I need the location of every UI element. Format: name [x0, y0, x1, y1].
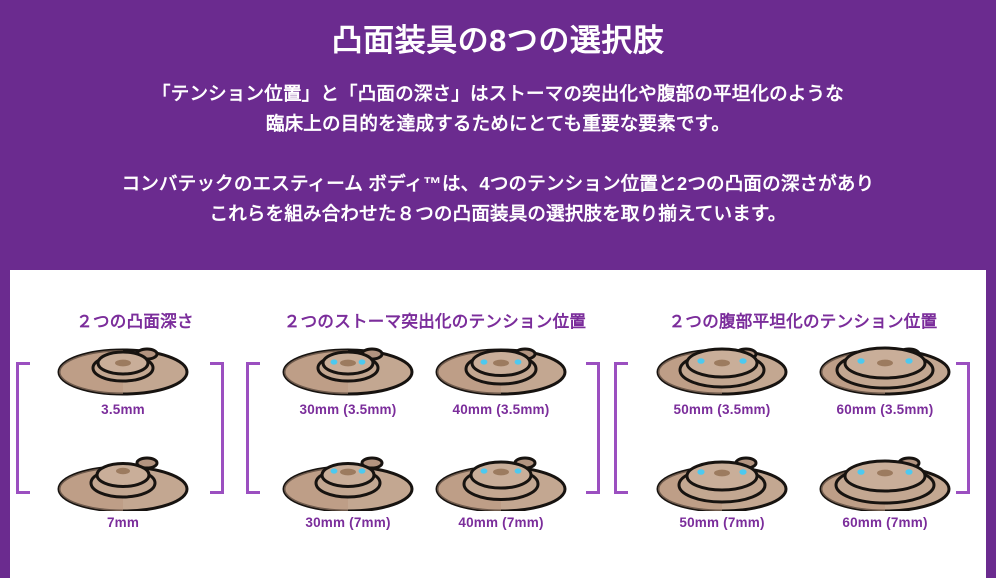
- group-heading-row: ２つの凸面深さ ２つのストーマ突出化のテンション位置 ２つの腹部平坦化のテンショ…: [10, 308, 986, 334]
- header-panel: 凸面装具の8つの選択肢 「テンション位置」と「凸面の深さ」はストーマの突出化や腹…: [0, 0, 996, 270]
- header-paragraph-1-line-1: 「テンション位置」と「凸面の深さ」はストーマの突出化や腹部の平坦化のような: [48, 79, 948, 109]
- tension-dot: [359, 359, 366, 364]
- header-paragraph-2-line-1: コンバテックのエスティーム ボディ™は、4つのテンション位置と2つの凸面の深さが…: [48, 169, 948, 199]
- barrier-illustration-abdomen-60mm-3-5mm: [800, 332, 970, 398]
- cell-stoma-30mm-7mm: 30mm (7mm): [263, 445, 433, 530]
- tension-dot: [905, 358, 912, 364]
- barrier-illustration-depth-3-5mm: [38, 332, 208, 398]
- bracket-depth-close: [210, 362, 224, 494]
- tension-dot: [481, 468, 488, 473]
- cell-label: 60mm (7mm): [800, 515, 970, 530]
- diagram-panel: ２つの凸面深さ ２つのストーマ突出化のテンション位置 ２つの腹部平坦化のテンショ…: [0, 270, 996, 578]
- group-heading-stoma-protrusion: ２つのストーマ突出化のテンション位置: [250, 308, 620, 332]
- tension-dot: [515, 359, 522, 364]
- barrier-illustration-abdomen-60mm-7mm: [800, 445, 970, 511]
- cell-abdomen-60mm-3-5mm: 60mm (3.5mm): [800, 332, 970, 417]
- cell-label: 3.5mm: [38, 402, 208, 417]
- tension-dot: [739, 469, 746, 475]
- header-paragraph-1: 「テンション位置」と「凸面の深さ」はストーマの突出化や腹部の平坦化のような 臨床…: [48, 59, 948, 139]
- cell-label: 40mm (7mm): [416, 515, 586, 530]
- cell-label: 50mm (7mm): [637, 515, 807, 530]
- tension-dot: [359, 468, 366, 473]
- group-heading-abdominal-flattening: ２つの腹部平坦化のテンション位置: [620, 308, 986, 332]
- barrier-illustration-stoma-30mm-3-5mm: [263, 332, 433, 398]
- header-paragraph-1-line-2: 臨床上の目的を達成するためにとても重要な要素です。: [48, 109, 948, 139]
- right-purple-rail: [986, 270, 996, 578]
- cell-label: 30mm (3.5mm): [263, 402, 433, 417]
- cell-abdomen-60mm-7mm: 60mm (7mm): [800, 445, 970, 530]
- tension-dot: [857, 469, 864, 475]
- barrier-illustration-stoma-40mm-3-5mm: [416, 332, 586, 398]
- header-paragraph-2: コンバテックのエスティーム ボディ™は、4つのテンション位置と2つの凸面の深さが…: [48, 139, 948, 229]
- barrier-illustration-stoma-40mm-7mm: [416, 445, 586, 511]
- cell-stoma-30mm-3-5mm: 30mm (3.5mm): [263, 332, 433, 417]
- cell-depth-7mm: 7mm: [38, 445, 208, 530]
- tension-dot: [515, 468, 522, 473]
- tension-dot: [331, 359, 338, 364]
- cell-abdomen-50mm-7mm: 50mm (7mm): [637, 445, 807, 530]
- group-heading-depth: ２つの凸面深さ: [20, 308, 250, 332]
- tension-dot: [697, 358, 704, 364]
- barrier-illustration-abdomen-50mm-3-5mm: [637, 332, 807, 398]
- cell-label: 60mm (3.5mm): [800, 402, 970, 417]
- cell-label: 30mm (7mm): [263, 515, 433, 530]
- barrier-illustration-abdomen-50mm-7mm: [637, 445, 807, 511]
- barrier-illustration-stoma-30mm-7mm: [263, 445, 433, 511]
- bracket-abdomen-open: [614, 362, 628, 494]
- header-paragraph-2-line-2: これらを組み合わせた８つの凸面装具の選択肢を取り揃えています。: [48, 199, 948, 229]
- infographic-page: 凸面装具の8つの選択肢 「テンション位置」と「凸面の深さ」はストーマの突出化や腹…: [0, 0, 996, 578]
- tension-dot: [905, 469, 912, 475]
- left-purple-rail: [0, 270, 10, 578]
- tension-dot: [331, 468, 338, 473]
- bracket-stoma-open: [246, 362, 260, 494]
- cell-label: 50mm (3.5mm): [637, 402, 807, 417]
- cell-stoma-40mm-3-5mm: 40mm (3.5mm): [416, 332, 586, 417]
- tension-dot: [697, 469, 704, 475]
- bracket-stoma-close: [586, 362, 600, 494]
- cell-stoma-40mm-7mm: 40mm (7mm): [416, 445, 586, 530]
- tension-dot: [739, 358, 746, 364]
- cell-label: 7mm: [38, 515, 208, 530]
- cell-abdomen-50mm-3-5mm: 50mm (3.5mm): [637, 332, 807, 417]
- cell-label: 40mm (3.5mm): [416, 402, 586, 417]
- cell-depth-3-5mm: 3.5mm: [38, 332, 208, 417]
- tension-dot: [857, 358, 864, 364]
- bracket-depth-open: [16, 362, 30, 494]
- tension-dot: [481, 359, 488, 364]
- page-title: 凸面装具の8つの選択肢: [0, 0, 996, 59]
- barrier-illustration-depth-7mm: [38, 445, 208, 511]
